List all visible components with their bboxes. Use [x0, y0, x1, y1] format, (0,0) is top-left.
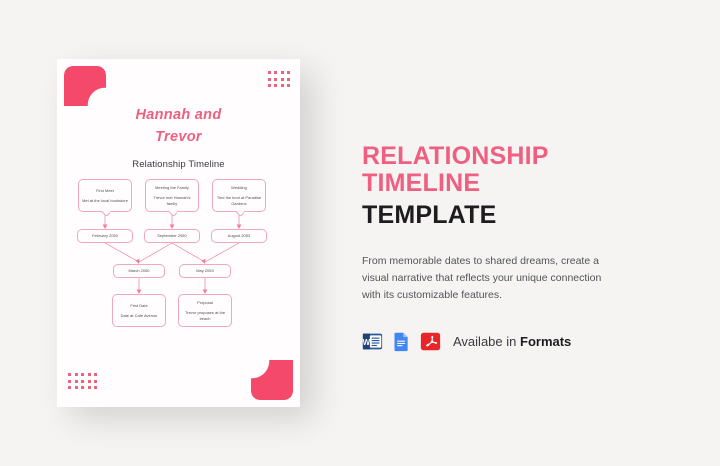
timeline-event-bottom-1: First Date Date at Cafe Avenue [112, 294, 166, 327]
promo-title-line-1: RELATIONSHIP [362, 143, 662, 170]
promo-description: From memorable dates to shared dreams, c… [362, 253, 620, 304]
timeline-event-bottom-2: Proposal Trevor proposes at the beach [178, 294, 232, 327]
timeline-event-desc: Date at Cafe Avenue [121, 313, 158, 318]
svg-text:W: W [363, 338, 371, 347]
timeline-event-title: Meeting the Family [155, 185, 189, 190]
timeline-event-desc: Trevor proposes at the beach [182, 310, 228, 321]
timeline-date-3: August 2053 [211, 229, 267, 243]
timeline-date-label: August 2053 [228, 233, 250, 238]
promo-title: RELATIONSHIP TIMELINE TEMPLATE [362, 143, 662, 229]
bubble-tail [168, 211, 177, 217]
bubble-tail [101, 211, 110, 217]
promo-title-line-2: TIMELINE [362, 170, 662, 197]
timeline-date-label: September 2050 [157, 233, 186, 238]
timeline-date-1: February 2050 [77, 229, 133, 243]
timeline-event-desc: Tied the knot at Paradise Gardens [216, 195, 262, 206]
promo-title-line-3: TEMPLATE [362, 202, 662, 229]
poster-mockup: Hannah and Trevor Relationship Timeline [57, 59, 300, 407]
word-icon: W [362, 331, 383, 352]
formats-prefix: Availabe in [453, 334, 516, 349]
timeline-event-desc: Met at the local bookstore [82, 198, 128, 203]
timeline-event-title: Wedding [231, 185, 247, 190]
timeline-event-top-2: Meeting the Family Trevor met Hannah's f… [145, 179, 199, 212]
timeline-event-title: Proposal [197, 300, 213, 305]
bubble-tail [235, 211, 244, 217]
timeline-event-title: First Meet [96, 188, 114, 193]
pdf-icon [420, 331, 441, 352]
timeline-event-top-3: Wedding Tied the knot at Paradise Garden… [212, 179, 266, 212]
poster-page: Hannah and Trevor Relationship Timeline [57, 59, 300, 407]
timeline-date-4: March 2050 [113, 264, 165, 278]
timeline-date-5: May 2053 [179, 264, 231, 278]
timeline-date-2: September 2050 [144, 229, 200, 243]
timeline-date-label: March 2050 [128, 268, 149, 273]
promo-panel: RELATIONSHIP TIMELINE TEMPLATE From memo… [362, 143, 662, 352]
timeline-event-title: First Date [130, 303, 147, 308]
timeline-date-label: February 2050 [92, 233, 118, 238]
timeline-event-top-1: First Meet Met at the local bookstore [78, 179, 132, 212]
formats-row: W Availabe in Formats [362, 331, 662, 352]
formats-label: Availabe in Formats [453, 334, 571, 349]
formats-bold: Formats [520, 334, 571, 349]
google-docs-icon [391, 331, 412, 352]
timeline-date-label: May 2053 [196, 268, 214, 273]
timeline-event-desc: Trevor met Hannah's family [149, 195, 195, 206]
